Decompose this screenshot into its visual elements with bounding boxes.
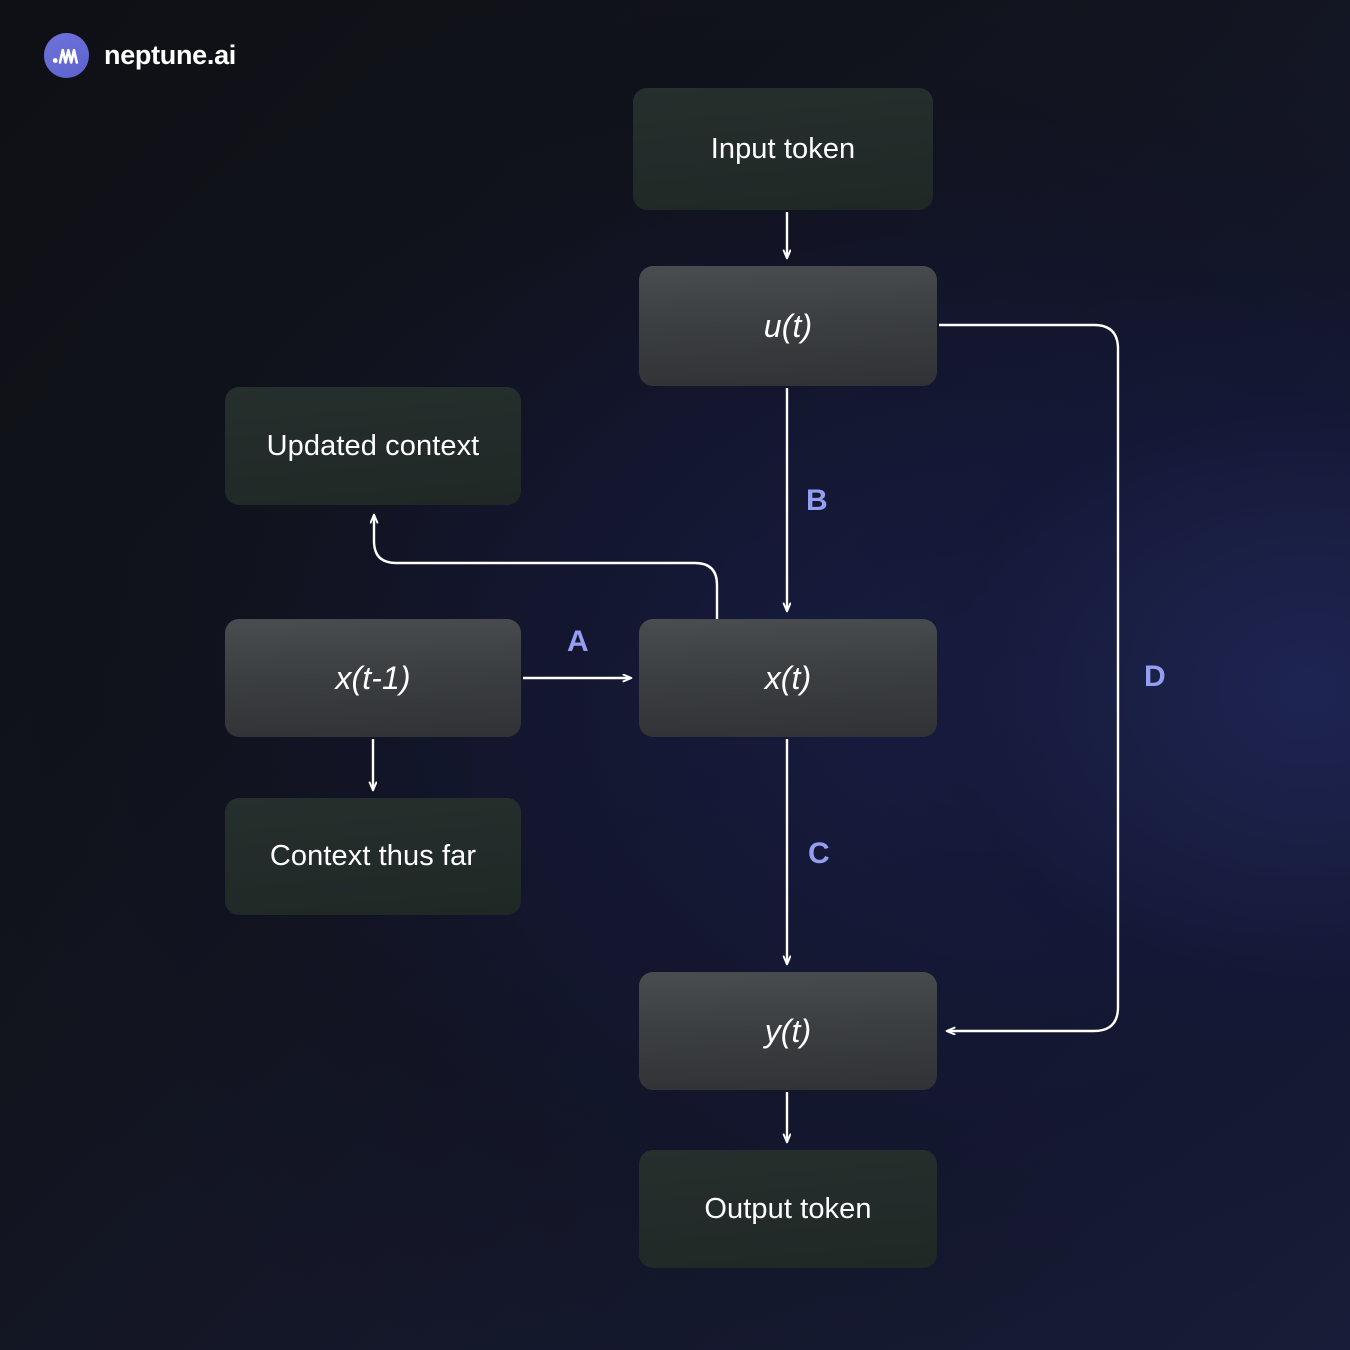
- node-x-t[interactable]: x(t): [639, 619, 937, 737]
- edge-label-b: B: [806, 484, 828, 518]
- brand-logo[interactable]: neptune.ai: [44, 33, 236, 78]
- node-label: Context thus far: [270, 840, 476, 873]
- brand-name: neptune.ai: [104, 40, 236, 71]
- edge-label-d: D: [1144, 660, 1166, 694]
- edge-label-text: A: [567, 625, 589, 658]
- node-updated-context[interactable]: Updated context: [225, 387, 521, 505]
- node-label: x(t): [765, 660, 812, 697]
- edge-label-a: A: [567, 625, 589, 659]
- node-y-t[interactable]: y(t): [639, 972, 937, 1090]
- node-label: Input token: [711, 133, 856, 166]
- edge-x-to-updated: [374, 515, 717, 621]
- node-u-t[interactable]: u(t): [639, 266, 937, 386]
- edge-u-to-y: [939, 325, 1118, 1031]
- edge-label-text: C: [808, 837, 830, 870]
- edge-label-c: C: [808, 837, 830, 871]
- neptune-wave-icon: [44, 33, 89, 78]
- node-label: y(t): [765, 1013, 812, 1050]
- diagram-canvas: neptune.ai Input token u(t) Updat: [0, 0, 1350, 1350]
- edge-label-text: D: [1144, 660, 1166, 693]
- node-label: u(t): [764, 308, 812, 345]
- node-label: x(t-1): [335, 660, 410, 697]
- node-label: Output token: [704, 1193, 871, 1226]
- edge-label-text: B: [806, 484, 828, 517]
- node-context-thus-far[interactable]: Context thus far: [225, 798, 521, 915]
- node-x-t-minus-1[interactable]: x(t-1): [225, 619, 521, 737]
- node-input-token[interactable]: Input token: [633, 88, 933, 210]
- node-output-token[interactable]: Output token: [639, 1150, 937, 1268]
- node-label: Updated context: [267, 430, 480, 463]
